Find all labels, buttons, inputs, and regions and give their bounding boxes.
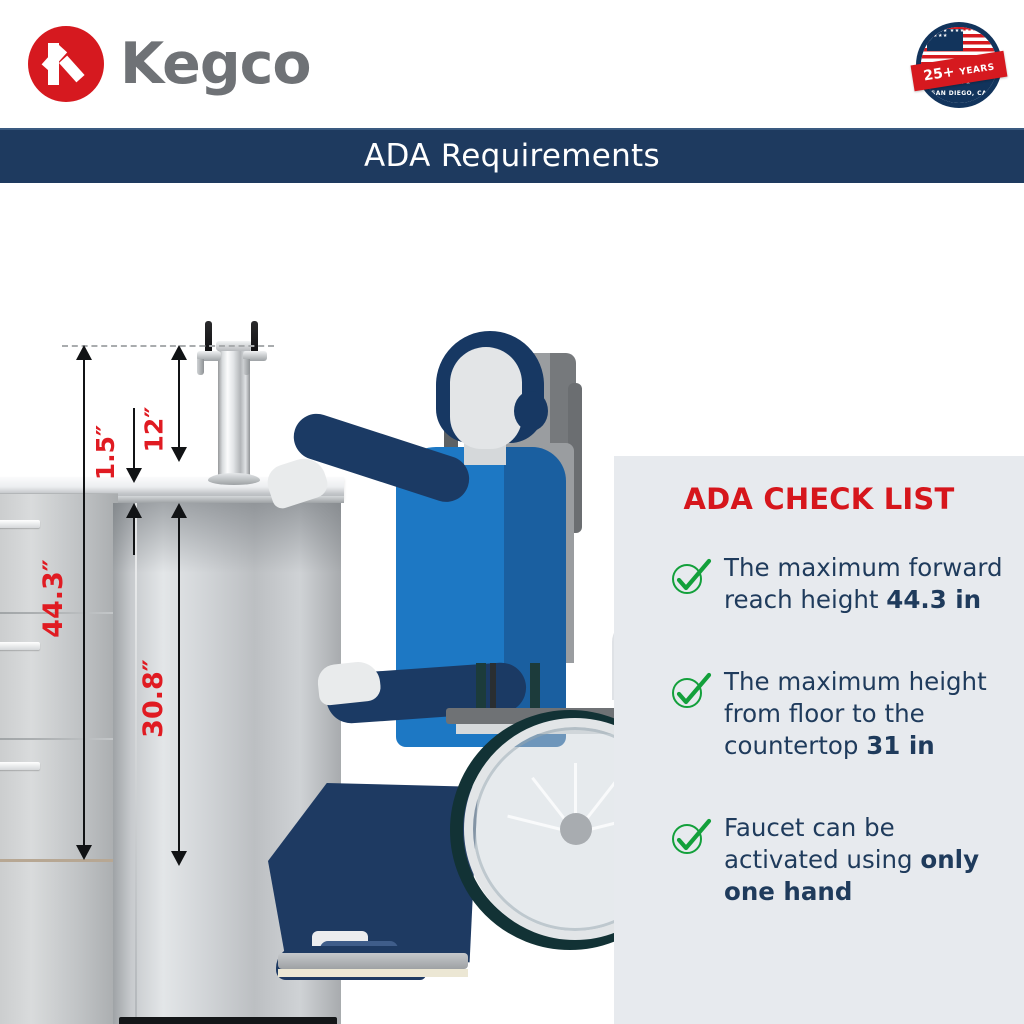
reaching-hand-icon — [316, 660, 382, 706]
page-header: Kegco ★★★★★ ★★★★★ ★★★★★ ★★★★ SAN DIEGO, … — [0, 0, 1024, 128]
faucet-tap-left-icon[interactable] — [194, 321, 224, 377]
dimension-label-44-3: 44.3″ — [38, 559, 69, 638]
badge-plus: + — [942, 64, 956, 82]
ada-requirements-infographic: Kegco ★★★★★ ★★★★★ ★★★★★ ★★★★ SAN DIEGO, … — [0, 0, 1024, 1024]
checklist-items: The maximum forward reach height 44.3 in… — [670, 552, 1014, 909]
dual-tap-draft-tower-icon — [196, 321, 272, 496]
title-bar: ADA Requirements — [0, 128, 1024, 183]
illustration-stage: Kegco — [0, 183, 1024, 1024]
green-check-circle-icon — [670, 670, 710, 710]
dimension-label-1-5: 1.5″ — [91, 425, 120, 480]
badge-years-number: 25 — [922, 66, 944, 85]
green-check-circle-icon — [670, 816, 710, 856]
kegerator-grille — [119, 1017, 337, 1024]
green-check-circle-icon — [670, 556, 710, 596]
floor-line — [0, 859, 114, 862]
reach-reference-line — [62, 345, 274, 347]
kegco-k-monogram-icon — [28, 26, 104, 102]
us-flag-anniversary-badge-icon: ★★★★★ ★★★★★ ★★★★★ ★★★★ SAN DIEGO, CA 25+… — [916, 22, 1002, 108]
checklist-item-text: Faucet can be activated using only one h… — [724, 812, 1014, 909]
checklist-item-text-normal: Faucet can be activated using — [724, 813, 920, 874]
checklist-item-text-normal: The maximum height from floor to the cou… — [724, 667, 987, 761]
dimension-label-12: 12″ — [139, 407, 168, 453]
badge-city-label: SAN DIEGO, CA — [921, 90, 997, 97]
person-in-wheelchair-icon — [268, 263, 638, 983]
checklist-item-text-bold: 31 in — [866, 731, 934, 760]
checklist-heading: ADA CHECK LIST — [614, 482, 1024, 516]
checklist-item-text: The maximum forward reach height 44.3 in — [724, 552, 1014, 617]
checklist-item: Faucet can be activated using only one h… — [670, 812, 1014, 909]
page-title: ADA Requirements — [364, 138, 660, 174]
ada-checklist-panel: ADA CHECK LIST The maximum forward reach… — [614, 456, 1024, 1024]
checklist-item: The maximum height from floor to the cou… — [670, 666, 1014, 763]
brand-wordmark: Kegco — [120, 36, 311, 93]
checklist-item-text: The maximum height from floor to the cou… — [724, 666, 1014, 763]
checklist-item: The maximum forward reach height 44.3 in — [670, 552, 1014, 617]
badge-years-label: YEARS — [959, 62, 996, 77]
faucet-tap-right-icon[interactable] — [240, 321, 270, 377]
checklist-item-text-bold: 44.3 in — [886, 585, 981, 614]
kegco-logo[interactable]: Kegco — [28, 26, 311, 102]
dimension-label-30-8: 30.8″ — [138, 659, 169, 738]
